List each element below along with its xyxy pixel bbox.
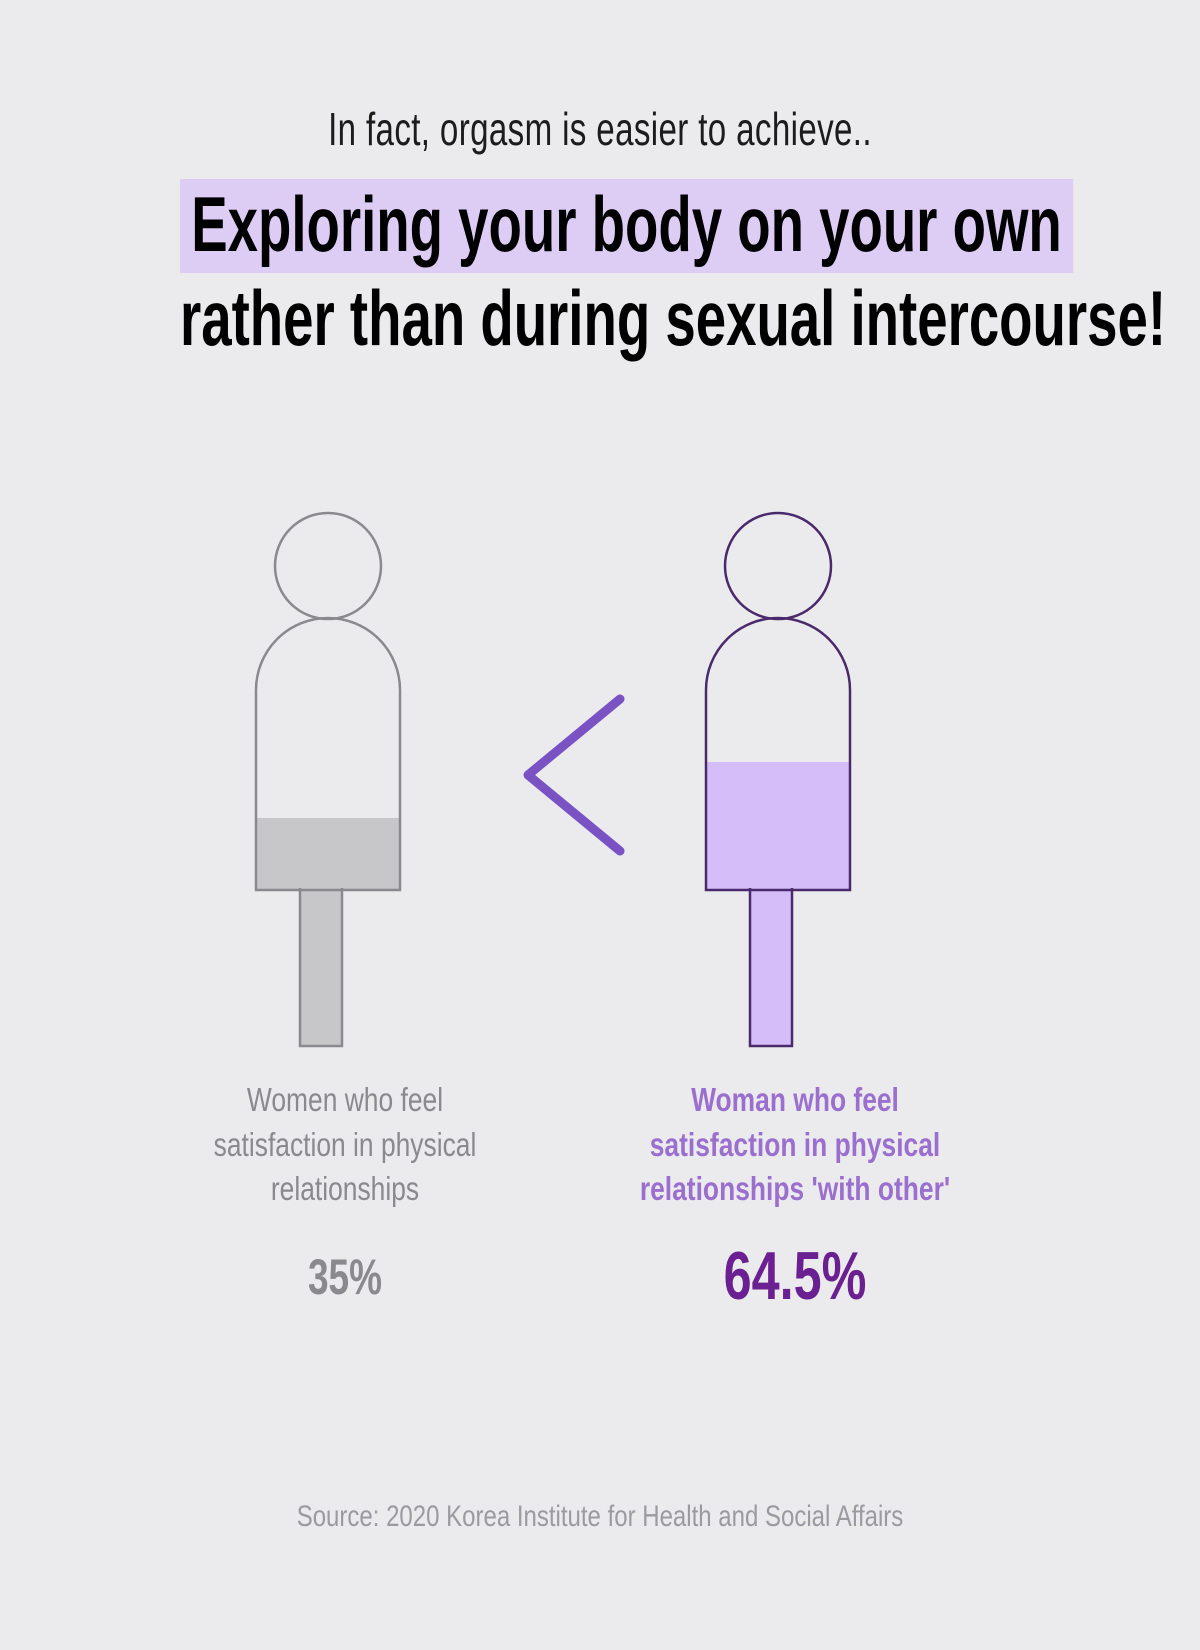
figure-left-gray: [238, 500, 458, 1075]
caption-left-line-2: satisfaction in physical: [177, 1123, 513, 1168]
caption-left-text: Women who feel satisfaction in physical …: [177, 1078, 513, 1212]
figure-right-purple: [688, 500, 908, 1075]
caption-right-text: Woman who feel satisfaction in physical …: [627, 1078, 963, 1212]
pictogram-purple-head: [725, 513, 831, 619]
caption-left-line-3: relationships: [177, 1167, 513, 1212]
source-note: Source: 2020 Korea Institute for Health …: [120, 1500, 1080, 1534]
headline-block: In fact, orgasm is easier to achieve.. E…: [0, 104, 1200, 357]
headline-highlight: Exploring your body on your own: [180, 179, 1073, 273]
caption-column-left: Women who feel satisfaction in physical …: [135, 1078, 555, 1302]
caption-left-line-1: Women who feel: [177, 1078, 513, 1123]
pictogram-gray-head: [275, 513, 381, 619]
value-right: 64.5%: [640, 1242, 951, 1310]
caption-right-line-2: satisfaction in physical: [627, 1123, 963, 1168]
kicker-text: In fact, orgasm is easier to achieve..: [168, 104, 1032, 155]
chevron-left-icon: [512, 685, 632, 865]
caption-column-right: Woman who feel satisfaction in physical …: [585, 1078, 1005, 1310]
pictogram-gray: [238, 500, 458, 1070]
caption-right-line-3: relationships 'with other': [627, 1167, 963, 1212]
caption-right-line-1: Woman who feel: [627, 1078, 963, 1123]
pictogram-purple: [688, 500, 908, 1070]
pictogram-gray-fill: [256, 618, 400, 1046]
value-left: 35%: [190, 1252, 501, 1302]
headline-line-1: Exploring your body on your own: [180, 179, 1020, 273]
comparison-figures: [0, 500, 1200, 1080]
headline-line-2: rather than during sexual intercourse!: [180, 279, 1020, 357]
pictogram-purple-fill: [706, 618, 850, 1046]
